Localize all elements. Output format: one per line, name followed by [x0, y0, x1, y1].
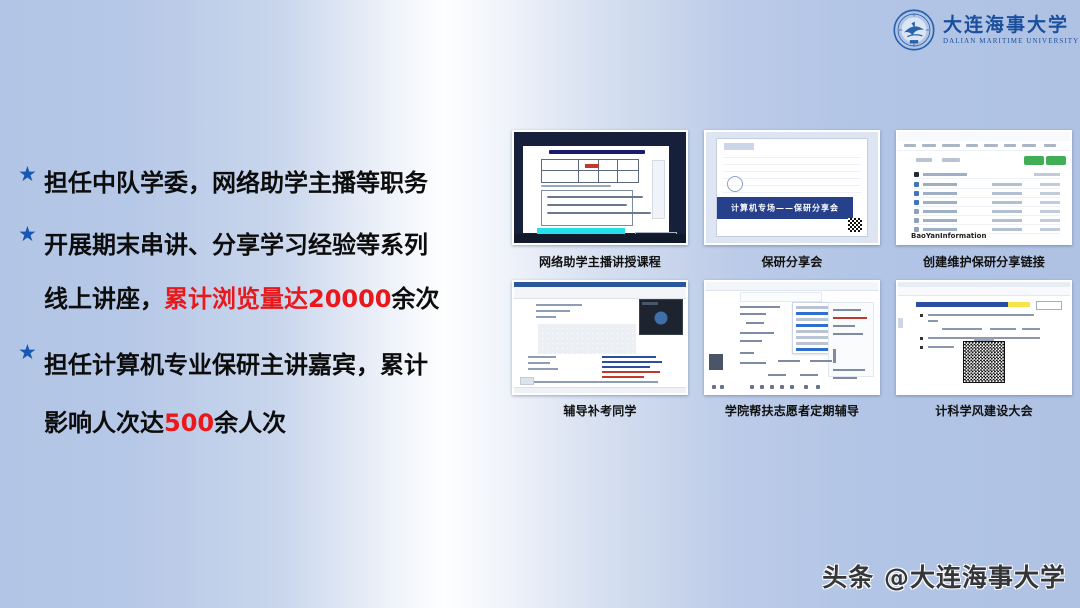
page-label-baoyaninformation: BaoYanInformation: [911, 232, 986, 240]
bullet-item-1: ★ 担任中队学委，网络助学主播等职务: [18, 158, 510, 208]
logo-chinese-name: 大连海事大学: [943, 16, 1079, 35]
dmu-seal-icon: [893, 9, 935, 51]
gallery-cell-3: BaoYanInformation 创建维护保研分享链接: [896, 130, 1072, 270]
gallery-cell-1: 网络助学主播讲授课程: [512, 130, 688, 270]
bullet-item-3: ★ 担任计算机专业保研主讲嘉宾，累计 影响人次达500余人次: [18, 336, 510, 452]
star-bullet-icon: ★: [18, 336, 44, 370]
bullet-item-2: ★ 开展期末串讲、分享学习经验等系列 线上讲座，累计浏览量达20000余次: [18, 218, 510, 326]
bullet-text-1: 担任中队学委，网络助学主播等职务: [44, 158, 428, 208]
gallery-cell-6: 计科学风建设大会: [896, 280, 1072, 419]
thumbnail-caption-6: 计科学风建设大会: [896, 402, 1072, 419]
star-bullet-icon: ★: [18, 158, 44, 192]
bullet-text-2: 开展期末串讲、分享学习经验等系列 线上讲座，累计浏览量达20000余次: [44, 218, 440, 326]
bullet-text-3: 担任计算机专业保研主讲嘉宾，累计 影响人次达500余人次: [44, 336, 428, 452]
slide-title-text: 计算机专场——保研分享会: [717, 202, 853, 213]
qr-code-icon: [963, 341, 1005, 383]
thumbnail-gallery: 网络助学主播讲授课程 计算机专场——保研分享会 保研分享会: [512, 130, 1072, 419]
university-logo: 大连海事大学 DALIAN MARITIME UNIVERSITY: [893, 6, 1073, 54]
thumbnail-image-sharing-session-slide[interactable]: 计算机专场——保研分享会: [704, 130, 880, 245]
thumbnail-image-lecture-document[interactable]: [512, 130, 688, 245]
gallery-cell-5: 学院帮扶志愿者定期辅导: [704, 280, 880, 419]
bullet-list: ★ 担任中队学委，网络助学主播等职务 ★ 开展期末串讲、分享学习经验等系列 线上…: [18, 158, 510, 462]
slide-canvas: 大连海事大学 DALIAN MARITIME UNIVERSITY ★ 担任中队…: [0, 0, 1080, 608]
gallery-cell-4: 辅导补考同学: [512, 280, 688, 419]
thumbnail-image-tutoring-word-doc[interactable]: [512, 280, 688, 395]
thumbnail-caption-1: 网络助学主播讲授课程: [512, 253, 688, 270]
gallery-cell-2: 计算机专场——保研分享会 保研分享会: [704, 130, 880, 270]
thumbnail-image-academic-meeting-doc[interactable]: [896, 280, 1072, 395]
thumbnail-caption-3: 创建维护保研分享链接: [896, 253, 1072, 270]
logo-english-name: DALIAN MARITIME UNIVERSITY: [943, 38, 1079, 45]
watermark-text: 头条 @大连海事大学: [822, 558, 1066, 594]
sidebar-panel: [828, 302, 874, 377]
video-call-panel: [639, 299, 683, 335]
highlight-500: 500: [164, 409, 214, 437]
thumbnail-image-baoyan-file-list[interactable]: BaoYanInformation: [896, 130, 1072, 245]
thumbnail-caption-5: 学院帮扶志愿者定期辅导: [704, 402, 880, 419]
star-bullet-icon: ★: [18, 218, 44, 252]
thumbnail-caption-2: 保研分享会: [704, 253, 880, 270]
thumbnail-image-volunteer-whiteboard[interactable]: [704, 280, 880, 395]
thumbnail-caption-4: 辅导补考同学: [512, 402, 688, 419]
highlight-20000: 累计浏览量达20000: [164, 285, 392, 313]
